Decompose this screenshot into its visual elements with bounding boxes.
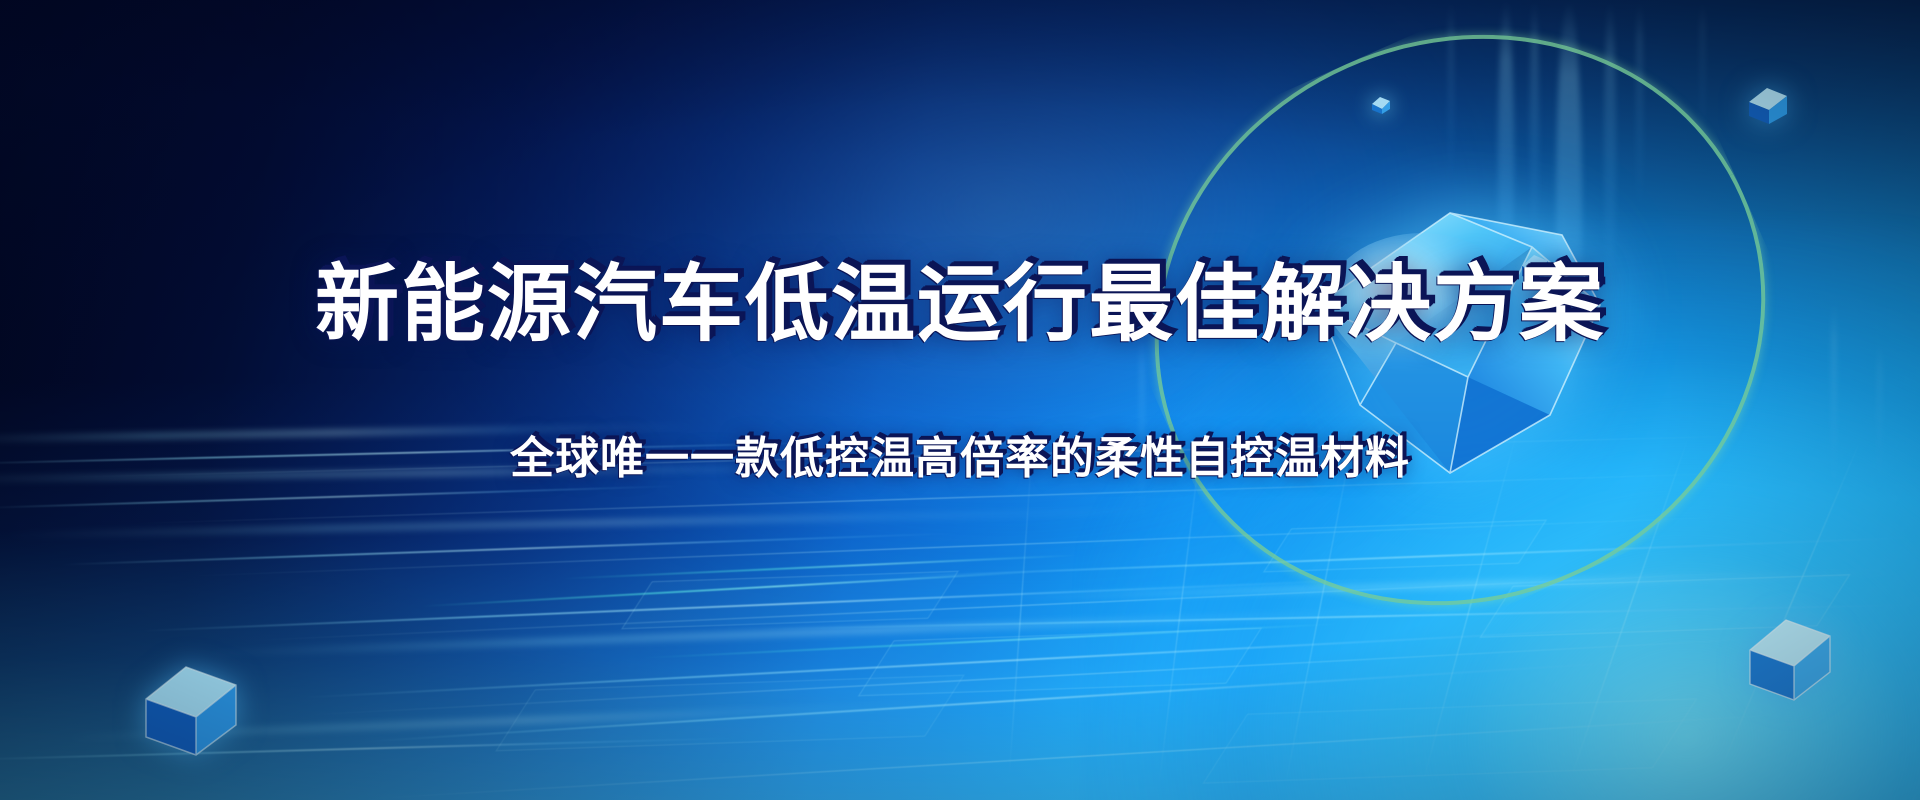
crystal-nub-small-icon (1370, 94, 1392, 116)
subtitle-block: 全球唯一一款低控温高倍率的柔性自控温材料 (0, 437, 1920, 481)
cube-bottom-right-icon (1742, 610, 1838, 706)
cube-bottom-left-icon (138, 655, 244, 761)
page-title: 新能源汽车低温运行最佳解决方案 (315, 262, 1605, 346)
headline-block: 新能源汽车低温运行最佳解决方案 (0, 262, 1920, 346)
hero-banner: 新能源汽车低温运行最佳解决方案 全球唯一一款低控温高倍率的柔性自控温材料 (0, 0, 1920, 800)
cube-top-right-icon (1745, 82, 1791, 128)
page-subtitle: 全球唯一一款低控温高倍率的柔性自控温材料 (510, 437, 1410, 481)
